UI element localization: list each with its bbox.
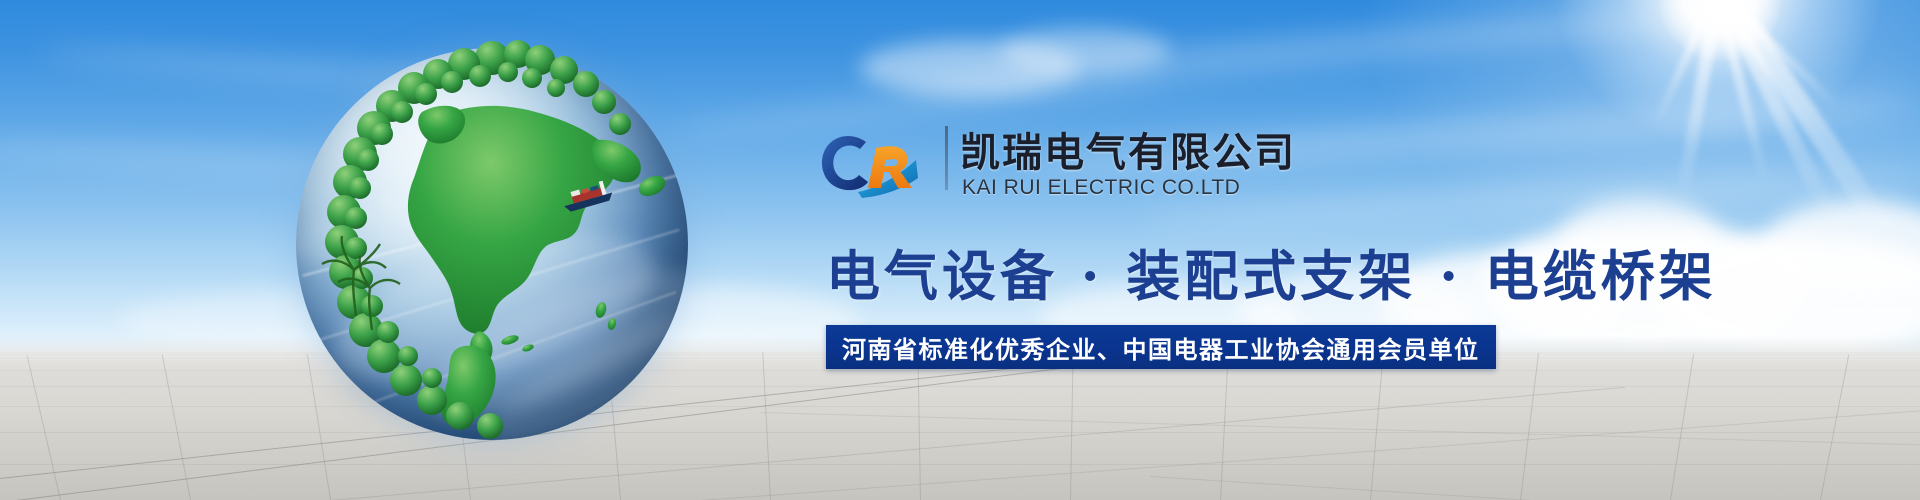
cr-monogram-logo bbox=[818, 122, 938, 202]
eco-globe-graphic bbox=[268, 30, 698, 460]
logo-divider bbox=[945, 126, 948, 190]
headline-slogan: 电气设备 · 装配式支架 · 电缆桥架 bbox=[826, 232, 1717, 311]
logo-c-shape bbox=[822, 136, 868, 190]
tagline-text: 河南省标准化优秀企业、中国电器工业协会通用会员单位 bbox=[842, 330, 1480, 365]
tree-ring-icon bbox=[268, 30, 698, 460]
tagline-badge: 河南省标准化优秀企业、中国电器工业协会通用会员单位 bbox=[826, 325, 1496, 369]
logo-swoosh-shape bbox=[858, 160, 918, 198]
company-name-cn: 凯瑞电气有限公司 bbox=[960, 120, 1296, 178]
company-name-en: KAI RUI ELECTRIC CO.LTD bbox=[962, 176, 1240, 200]
company-banner: 凯瑞电气有限公司 KAI RUI ELECTRIC CO.LTD 电气设备 · … bbox=[0, 0, 1920, 500]
